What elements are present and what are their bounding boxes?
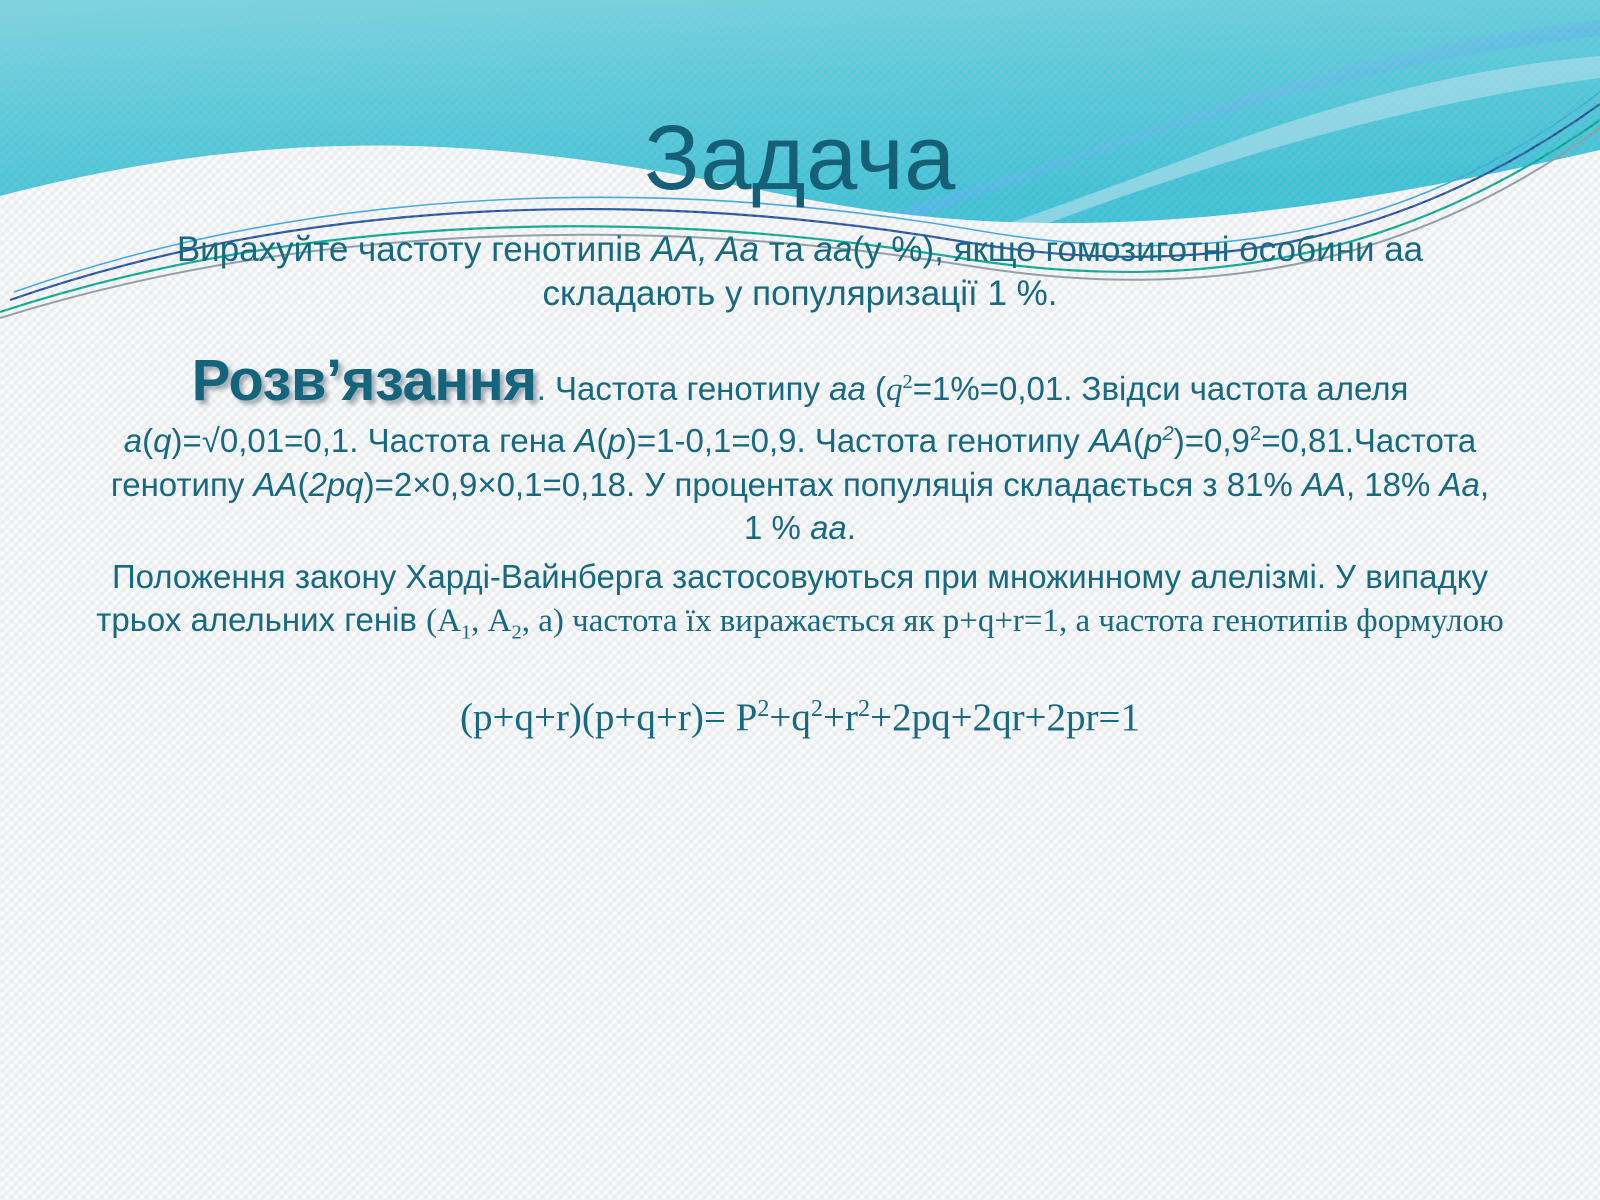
formula-mid-2: +r <box>823 696 858 739</box>
solution-l2d: ( <box>597 422 608 459</box>
genotype-aa-rec: aa <box>814 230 853 269</box>
solution-l1c: =1%=0,01. Звідси частота алеля <box>913 370 1409 407</box>
solution-result-aa: aa <box>810 509 847 546</box>
solution-l3b: ( <box>298 466 309 503</box>
solution-q-exponent: 2 <box>903 371 913 393</box>
solution-heading: Розв’язання <box>192 348 537 413</box>
page-title: Задача <box>0 0 1600 204</box>
formula-tail: +2pq+2qr+2pr=1 <box>870 696 1140 739</box>
hardy-allele-2-sub: 2 <box>512 622 522 644</box>
problem-text-1: Вирахуйте частоту генотипів <box>177 230 652 269</box>
problem-statement: Вирахуйте частоту генотипів AA, Aa та aa… <box>86 228 1514 316</box>
hardy-alleles-close: , а) <box>522 603 564 639</box>
solution-result-Aa: Aa <box>1440 466 1480 503</box>
problem-text-2: та <box>759 230 814 269</box>
solution-term-2pq: 2pq <box>309 466 364 503</box>
formula-sup-1: 2 <box>757 695 769 722</box>
solution-p-exponent: 2 <box>1162 422 1173 445</box>
solution-l1b: ( <box>866 370 886 407</box>
solution-l2c: )=√0,01=0,1. Частота гена <box>172 422 575 459</box>
solution-genotype-AA: AA <box>1089 422 1133 459</box>
solution-l4c: . <box>847 509 856 546</box>
hardy-part-2: частота їх виражається як p+q+r=1, а час… <box>564 603 1504 639</box>
solution-var-q: q <box>886 372 903 408</box>
genotype-aa-dom: AA, Aa <box>651 230 759 269</box>
solution-body: Розв’язання. Частота генотипу aa (q2=1%=… <box>100 342 1500 551</box>
solution-var-p: p <box>608 422 626 459</box>
solution-09-exponent: 2 <box>1250 422 1261 445</box>
solution-l2e: )=1-0,1=0,9. Частота генотипу <box>626 422 1089 459</box>
hardy-weinberg-note: Положення закону Харді-Вайнберга застосо… <box>90 556 1510 643</box>
solution-l3c: )=2×0,9×0,1=0,18. У процентах популяція … <box>364 466 1302 503</box>
solution-gene-A: A <box>575 422 597 459</box>
hardy-weinberg-formula: (p+q+r)(p+q+r)= P2+q2+r2+2pq+2qr+2pr=1 <box>0 695 1600 742</box>
formula-left: (p+q+r)(p+q+r)= P <box>460 696 757 739</box>
hardy-alleles-mid: , А <box>471 603 511 639</box>
solution-allele-a: a <box>124 422 142 459</box>
solution-l1a: . Частота генотипу <box>537 370 829 407</box>
solution-l2f: ( <box>1133 422 1144 459</box>
solution-l4a: , 18% <box>1346 466 1440 503</box>
formula-sup-2: 2 <box>811 695 823 722</box>
solution-result-AA: AA <box>1302 466 1346 503</box>
solution-l2g: )=0,9 <box>1174 422 1250 459</box>
solution-l2b: ( <box>142 422 153 459</box>
solution-var-p2: p <box>1144 422 1162 459</box>
solution-genotype-aa: aa <box>829 370 866 407</box>
hardy-alleles-open: (А <box>426 603 461 639</box>
formula-sup-3: 2 <box>858 695 870 722</box>
presentation-slide: Задача Вирахуйте частоту генотипів AA, A… <box>0 0 1600 1200</box>
slide-content: Задача Вирахуйте частоту генотипів AA, A… <box>0 0 1600 742</box>
solution-genotype-AA-2: AA <box>254 466 298 503</box>
solution-var-q2: q <box>153 422 171 459</box>
hardy-allele-1-sub: 1 <box>461 622 471 644</box>
formula-mid-1: +q <box>769 696 811 739</box>
